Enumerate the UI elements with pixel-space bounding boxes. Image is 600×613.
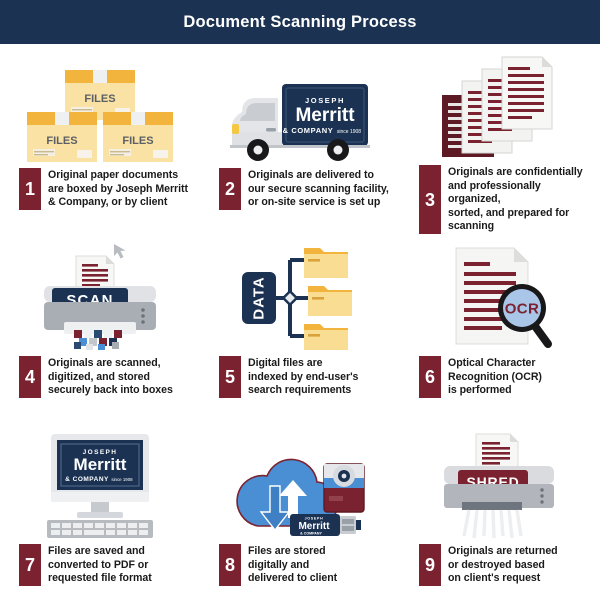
box-label-files: FILES [46, 135, 77, 147]
step-7-text: Files are saved and converted to PDF or … [48, 544, 152, 586]
header-bar: Document Scanning Process [0, 0, 600, 44]
caption-line: search requirements [248, 384, 358, 398]
step-9-number: 9 [419, 544, 441, 586]
step-7-artwork: JOSEPH Merritt & COMPANY since 1908 [5, 430, 195, 538]
step-8-number: 8 [219, 544, 241, 586]
caption-line: Originals are returned [448, 545, 558, 559]
step-2: JOSEPH Merritt & COMPANY since 1908 [200, 44, 400, 234]
truck-brand-bottom: & COMPANY [283, 126, 334, 135]
caption-line: digitized, and stored [48, 371, 173, 385]
caption-line: our secure scanning facility, [248, 183, 389, 197]
monitor-brand-name: Merritt [74, 455, 127, 474]
step-1-text: Original paper documents are boxed by Jo… [48, 168, 188, 210]
step-6-text: Optical Character Recognition (OCR) is p… [448, 356, 542, 398]
box-label-files: FILES [122, 135, 153, 147]
step-3-artwork [405, 54, 595, 159]
caption-line: Originals are confidentially [448, 166, 593, 180]
ocr-label: OCR [505, 301, 540, 318]
cloud-storage-icon: JOSEPH Merritt & COMPANY [228, 434, 372, 538]
step-8-artwork: JOSEPH Merritt & COMPANY [205, 430, 395, 538]
step-5-number: 5 [219, 356, 241, 398]
step-1-artwork: FILES FILES [5, 54, 195, 162]
step-7-number: 7 [19, 544, 41, 586]
caption-line: Optical Character [448, 357, 542, 371]
caption-line: securely back into boxes [48, 384, 173, 398]
step-5-caption: 5 Digital files are indexed by end-user'… [207, 356, 393, 398]
caption-line: delivered to client [248, 572, 337, 586]
truck-brand-top: JOSEPH [305, 96, 345, 105]
truck-brand-since: since 1908 [337, 129, 361, 135]
step-4: SCAN [0, 234, 200, 424]
caption-line: and professionally organized, [448, 180, 593, 207]
step-3-text: Originals are confidentially and profess… [448, 165, 593, 234]
caption-line: Originals are scanned, [48, 357, 173, 371]
step-7: JOSEPH Merritt & COMPANY since 1908 [0, 424, 200, 613]
usb-brand-name: Merritt [298, 521, 330, 532]
step-4-text: Originals are scanned, digitized, and st… [48, 356, 173, 398]
data-block-label: DATA [251, 276, 268, 319]
step-5: DATA [200, 234, 400, 424]
step-5-artwork: DATA [205, 242, 395, 350]
data-folders-icon: DATA [232, 246, 368, 350]
step-3-caption: 3 Originals are confidentially and profe… [407, 165, 593, 234]
step-1-number: 1 [19, 168, 41, 210]
step-1: FILES FILES [0, 44, 200, 234]
step-6: OCR 6 Optical Character Recognition (OCR… [400, 234, 600, 424]
step-4-number: 4 [19, 356, 41, 398]
caption-line: requested file format [48, 572, 152, 586]
usb-brand-bottom: & COMPANY [300, 532, 322, 536]
delivery-truck-icon: JOSEPH Merritt & COMPANY since 1908 [220, 66, 380, 162]
infographic-root: Document Scanning Process FILES [0, 0, 600, 613]
step-1-caption: 1 Original paper documents are boxed by … [7, 168, 193, 210]
document-stack-icon [430, 55, 570, 159]
step-8: JOSEPH Merritt & COMPANY 8 Files are sto… [200, 424, 400, 613]
desktop-computer-icon: JOSEPH Merritt & COMPANY since 1908 [35, 430, 165, 538]
step-6-number: 6 [419, 356, 441, 398]
step-2-text: Originals are delivered to our secure sc… [248, 168, 389, 210]
box-label-files: FILES [84, 93, 115, 105]
step-3-number: 3 [419, 165, 441, 234]
caption-line: or destroyed based [448, 559, 558, 573]
monitor-brand-since: since 1908 [111, 477, 133, 482]
step-9-artwork: SHRED [405, 430, 595, 538]
file-boxes-icon: FILES FILES [15, 62, 185, 162]
step-7-caption: 7 Files are saved and converted to PDF o… [7, 544, 193, 586]
step-2-artwork: JOSEPH Merritt & COMPANY since 1908 [205, 54, 395, 162]
scanner-icon: SCAN [30, 242, 170, 350]
step-2-caption: 2 Originals are delivered to our secure … [207, 168, 393, 210]
caption-line: on client's request [448, 572, 558, 586]
usb-brand-top: JOSEPH [305, 517, 324, 521]
step-9-caption: 9 Originals are returned or destroyed ba… [407, 544, 593, 586]
caption-line: Digital files are [248, 357, 358, 371]
step-5-text: Digital files are indexed by end-user's … [248, 356, 358, 398]
step-9: SHRED [400, 424, 600, 613]
caption-line: is performed [448, 384, 542, 398]
step-6-caption: 6 Optical Character Recognition (OCR) is… [407, 356, 593, 398]
caption-line: are boxed by Joseph Merritt [48, 183, 188, 197]
step-9-text: Originals are returned or destroyed base… [448, 544, 558, 586]
caption-line: Originals are delivered to [248, 169, 389, 183]
step-3: 3 Originals are confidentially and profe… [400, 44, 600, 234]
caption-line: sorted, and prepared for scanning [448, 207, 593, 234]
caption-line: indexed by end-user's [248, 371, 358, 385]
step-8-caption: 8 Files are stored digitally and deliver… [207, 544, 393, 586]
step-2-number: 2 [219, 168, 241, 210]
monitor-brand-bottom: & COMPANY [65, 476, 109, 483]
caption-line: Files are saved and [48, 545, 152, 559]
caption-line: Original paper documents [48, 169, 188, 183]
step-4-artwork: SCAN [5, 242, 195, 350]
page-title: Document Scanning Process [183, 13, 416, 32]
caption-line: & Company, or by client [48, 196, 188, 210]
step-4-caption: 4 Originals are scanned, digitized, and … [7, 356, 193, 398]
steps-grid: FILES FILES [0, 44, 600, 613]
caption-line: Files are stored [248, 545, 337, 559]
caption-line: or on-site service is set up [248, 196, 389, 210]
step-8-text: Files are stored digitally and delivered… [248, 544, 337, 586]
paper-shredder-icon: SHRED [436, 426, 564, 538]
caption-line: converted to PDF or [48, 559, 152, 573]
ocr-magnifier-icon: OCR [440, 244, 560, 350]
step-6-artwork: OCR [405, 242, 595, 350]
caption-line: digitally and [248, 559, 337, 573]
caption-line: Recognition (OCR) [448, 371, 542, 385]
truck-brand-name: Merritt [295, 105, 355, 126]
